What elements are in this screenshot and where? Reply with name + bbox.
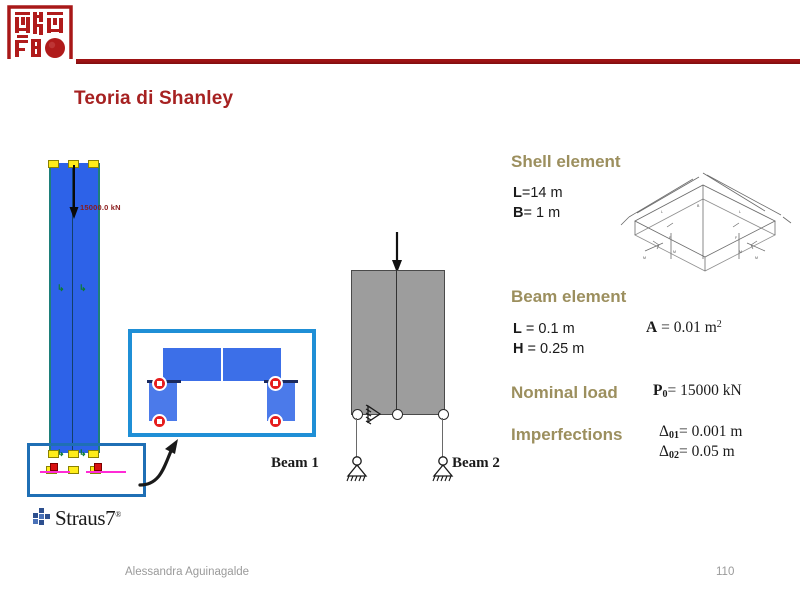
shell-width-value: = 1 m: [523, 205, 560, 221]
load-value-label: 15000.0 kN: [80, 203, 121, 212]
beam-area-symbol: A: [646, 319, 657, 336]
beam-length-value: = 0.1 m: [522, 321, 575, 337]
hinge-node-right: [438, 409, 449, 420]
selection-box[interactable]: [27, 443, 146, 497]
shell-length-row: L=14 m: [513, 185, 563, 201]
svg-text:M: M: [673, 250, 676, 254]
lateral-spring-symbol: [366, 403, 394, 425]
beam-1-label: Beam 1: [271, 455, 319, 472]
pin-support-left: [345, 455, 369, 483]
base-detail-content: [135, 336, 309, 430]
beam-area-value: = 0.01 m: [657, 319, 717, 336]
detail-node-marker: [152, 414, 167, 429]
svg-text:F: F: [735, 236, 738, 240]
footer-author: Alessandra Aguinagalde: [125, 566, 249, 578]
shell-element-sketch: LL B FF MM MM: [615, 167, 795, 275]
straus7-wordmark: Straus7: [55, 506, 115, 530]
imperfection-1-subscript: 01: [669, 430, 679, 441]
base-detail-zoom-box[interactable]: [128, 329, 316, 437]
svg-text:M: M: [739, 250, 742, 254]
nominal-load-value: = 15000 kN: [667, 382, 741, 399]
green-axis-arrow: ↳: [79, 283, 87, 294]
imperfection-2-value: = 0.05 m: [679, 443, 735, 460]
nominal-load-heading: Nominal load: [511, 383, 618, 403]
imperfection-2-subscript: 02: [669, 450, 679, 461]
beam-element-heading: Beam element: [511, 287, 626, 307]
slide-canvas: Teoria di Shanley 15000.0 kN ↳ ↳ ↳ ↳: [0, 0, 800, 600]
page-title: Teoria di Shanley: [74, 88, 233, 110]
shell-length-symbol: L: [513, 185, 522, 201]
beam-leg-left: [356, 418, 357, 458]
registered-trademark-icon: ®: [115, 510, 121, 519]
svg-text:M: M: [755, 256, 758, 260]
imperfection-1-symbol: Δ: [659, 423, 669, 440]
beam-height-row: H = 0.25 m: [513, 341, 584, 357]
detail-beam-left: [163, 348, 221, 381]
detail-node-marker: [268, 376, 283, 391]
parameters-panel: Shell element L=14 m B= 1 m: [505, 145, 800, 455]
shell-width-symbol: B: [513, 205, 523, 221]
svg-text:L: L: [661, 210, 663, 214]
schematic-load-arrow: [391, 232, 403, 274]
yellow-node: [88, 160, 99, 168]
svg-text:L: L: [739, 210, 741, 214]
rigid-block-centerline: [396, 270, 397, 413]
shell-width-row: B= 1 m: [513, 205, 560, 221]
detail-node-marker: [152, 376, 167, 391]
imperfections-heading: Imperfections: [511, 425, 622, 445]
straus7-logo-text: Straus7®: [55, 506, 121, 531]
footer-page-number: 110: [716, 566, 734, 578]
beam-length-symbol: L: [513, 321, 522, 337]
beam-height-value: = 0.25 m: [523, 341, 584, 357]
straus7-logo-mark: [33, 508, 53, 528]
detail-node-marker: [268, 414, 283, 429]
hinge-node-left: [352, 409, 363, 420]
imperfection-1-row: Δ01= 0.001 m: [659, 423, 742, 441]
rigid-block: [351, 270, 445, 415]
shell-element-heading: Shell element: [511, 152, 621, 172]
beam-height-symbol: H: [513, 341, 523, 357]
yellow-node: [48, 160, 59, 168]
beam-length-row: L = 0.1 m: [513, 321, 575, 337]
imperfection-2-symbol: Δ: [659, 443, 669, 460]
imperfection-2-row: Δ02= 0.05 m: [659, 443, 735, 461]
header-rule: [0, 59, 800, 64]
load-arrow: [69, 165, 79, 221]
seal-rule-mask: [0, 59, 76, 67]
svg-text:B: B: [697, 204, 700, 208]
beam-2-label: Beam 2: [452, 455, 500, 472]
beam-area-exponent: 2: [717, 319, 722, 330]
shell-length-value: =14 m: [522, 185, 563, 201]
red-square-seal-logo: [8, 6, 72, 64]
imperfection-1-value: = 0.001 m: [679, 423, 742, 440]
beam-leg-right: [442, 418, 443, 458]
svg-text:M: M: [643, 256, 646, 260]
beam-area-row: A = 0.01 m2: [646, 319, 722, 337]
callout-pointer-arrow: [138, 437, 200, 489]
green-axis-arrow: ↳: [57, 283, 65, 294]
nominal-load-row: P0= 15000 kN: [653, 382, 742, 400]
